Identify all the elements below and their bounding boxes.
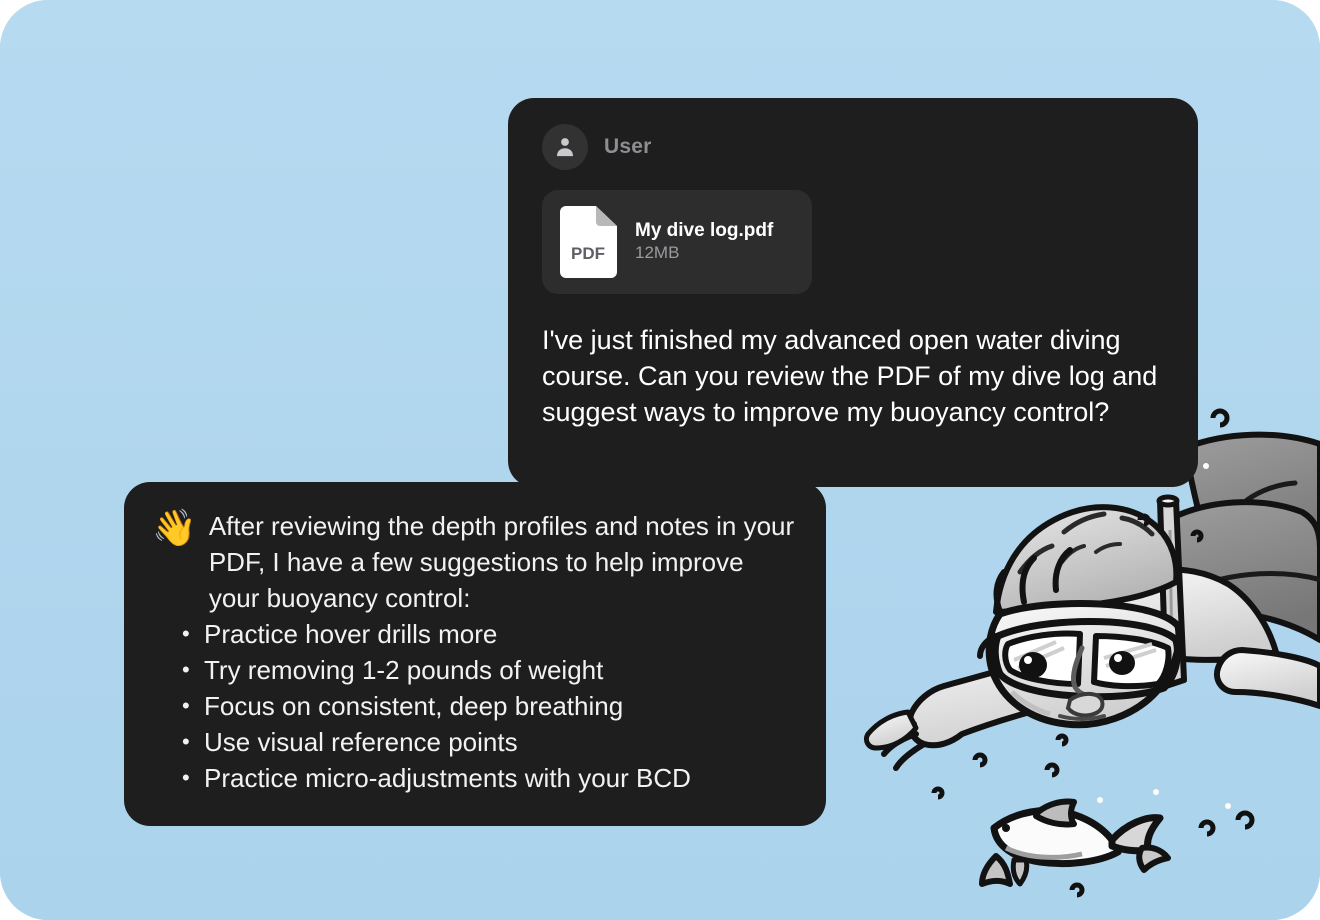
person-avatar-icon (542, 124, 588, 170)
page-root: User PDF My dive log.pdf 12MB I've just … (0, 0, 1320, 920)
attachment-file-name: My dive log.pdf (635, 220, 773, 241)
attachment-meta: My dive log.pdf 12MB (635, 220, 794, 263)
list-item: Try removing 1-2 pounds of weight (204, 652, 796, 688)
assistant-message-body: 👋 After reviewing the depth profiles and… (152, 508, 796, 796)
user-message-header: User (542, 124, 1164, 170)
list-item: Use visual reference points (204, 724, 796, 760)
pdf-file-icon: PDF (560, 206, 617, 278)
user-message-bubble: User PDF My dive log.pdf 12MB I've just … (508, 98, 1198, 487)
list-item: Practice micro-adjustments with your BCD (204, 760, 796, 796)
attachment-file-size: 12MB (635, 243, 679, 262)
list-item: Focus on consistent, deep breathing (204, 688, 796, 724)
suggestion-list: Practice hover drills more Try removing … (152, 616, 796, 796)
assistant-message-bubble: 👋 After reviewing the depth profiles and… (124, 482, 826, 826)
svg-text:PDF: PDF (571, 244, 605, 263)
chat-transcript: User PDF My dive log.pdf 12MB I've just … (0, 0, 1320, 920)
attachment-card[interactable]: PDF My dive log.pdf 12MB (542, 190, 812, 294)
sender-name-label: User (604, 135, 652, 159)
assistant-intro-text: After reviewing the depth profiles and n… (209, 508, 796, 616)
waving-hand-icon: 👋 (152, 508, 197, 548)
user-message-text: I've just finished my advanced open wate… (542, 322, 1164, 430)
list-item: Practice hover drills more (204, 616, 796, 652)
